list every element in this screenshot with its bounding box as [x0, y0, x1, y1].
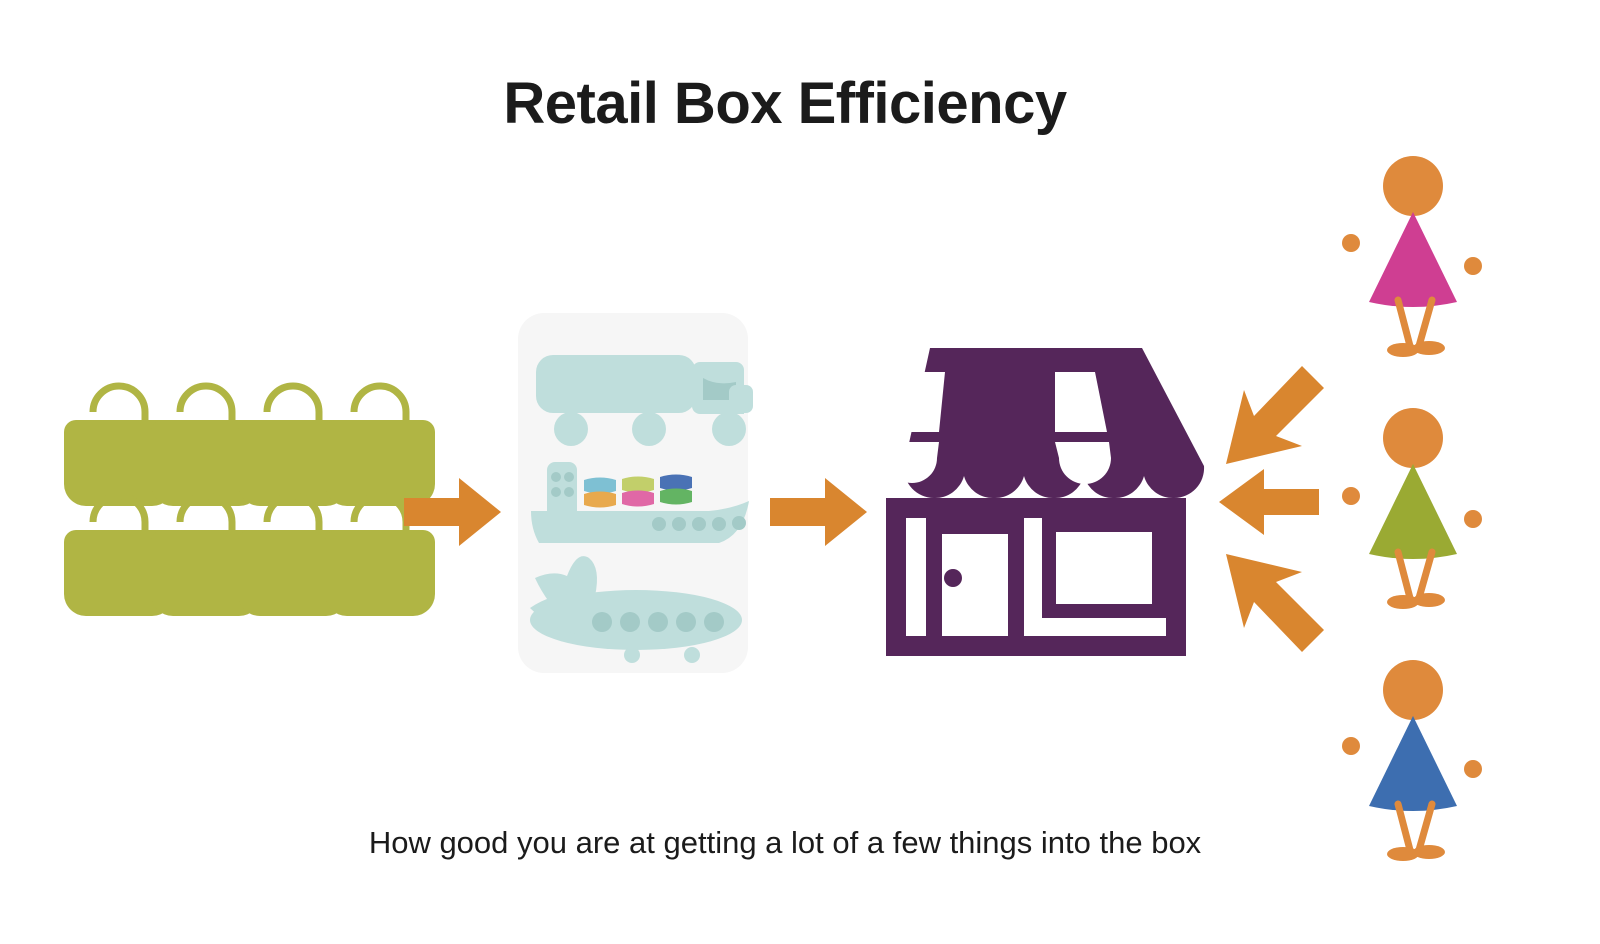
- figure-dress: [1369, 212, 1457, 307]
- figure-hand: [1464, 760, 1482, 778]
- figure-foot: [1413, 593, 1445, 607]
- shopping-bag-icon: [325, 386, 435, 506]
- arrow-logistics-to-store: [770, 478, 867, 546]
- figure-foot: [1413, 341, 1445, 355]
- diagram-graphics: [0, 0, 1600, 944]
- arrow-customer-middle-to-store: [1219, 469, 1319, 535]
- diagram-canvas: Retail Box Efficiency How good you are a…: [0, 0, 1600, 944]
- figure-head: [1383, 156, 1443, 216]
- figure-hand: [1464, 510, 1482, 528]
- customer-figure-pink: [1342, 156, 1482, 357]
- figure-head: [1383, 408, 1443, 468]
- figure-hand: [1342, 234, 1360, 252]
- arrow-customer-bottom-to-store: [1226, 554, 1324, 652]
- shopping-bags-group: [64, 386, 435, 616]
- logistics-panel: [518, 313, 753, 673]
- figure-dress: [1369, 464, 1457, 559]
- figure-hand: [1464, 257, 1482, 275]
- figure-head: [1383, 660, 1443, 720]
- truck-icon: [536, 355, 753, 446]
- figure-hand: [1342, 487, 1360, 505]
- storefront-icon: [886, 348, 1204, 656]
- figure-foot: [1413, 845, 1445, 859]
- figure-dress: [1369, 716, 1457, 811]
- customer-figure-blue: [1342, 660, 1482, 861]
- customer-figure-green: [1342, 408, 1482, 609]
- arrow-customer-top-to-store: [1226, 366, 1324, 464]
- figure-hand: [1342, 737, 1360, 755]
